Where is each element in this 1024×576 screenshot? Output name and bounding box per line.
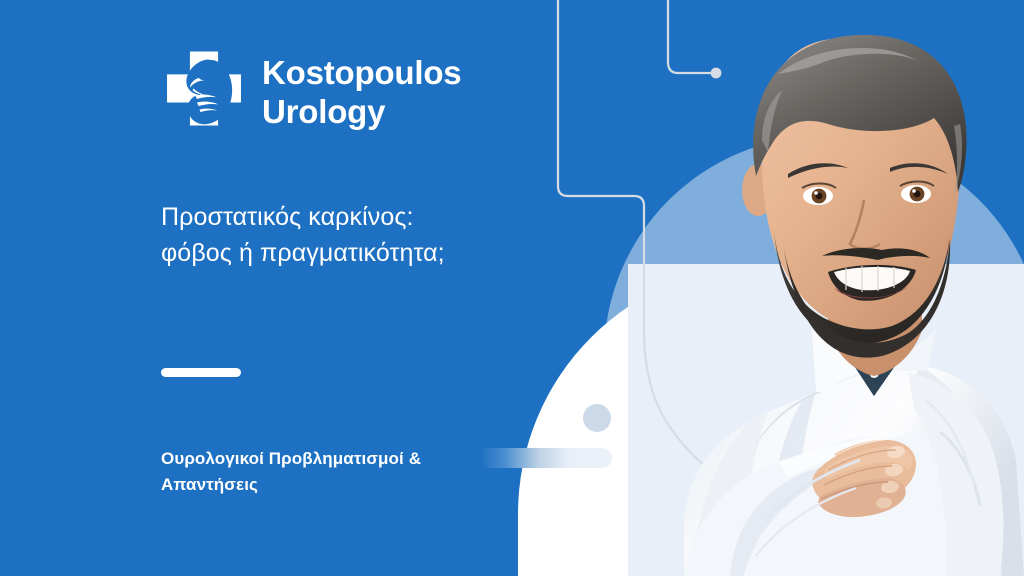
headline: Προστατικός καρκίνος: φόβος ή πραγματικό… bbox=[161, 200, 581, 271]
doctor-portrait bbox=[516, 0, 1024, 576]
headline-line2: φόβος ή πραγματικότητα; bbox=[161, 236, 581, 272]
brand-name-line2: Urology bbox=[262, 95, 461, 128]
brand-wordmark: Kostopoulos Urology bbox=[262, 56, 461, 128]
caption: Ουρολογικοί Προβληματισμοί & Απαντήσεις bbox=[161, 446, 521, 497]
caption-line2: Απαντήσεις bbox=[161, 472, 521, 498]
brand-name-line1: Kostopoulos bbox=[262, 56, 461, 89]
medical-cross-kidney-icon bbox=[160, 48, 248, 136]
brand-logo[interactable]: Kostopoulos Urology bbox=[160, 48, 461, 136]
divider-rule bbox=[161, 368, 241, 377]
caption-line1: Ουρολογικοί Προβληματισμοί & bbox=[161, 449, 421, 468]
presentation-slide: Kostopoulos Urology Προστατικός καρκίνος… bbox=[0, 0, 1024, 576]
headline-line1: Προστατικός καρκίνος: bbox=[161, 203, 414, 231]
